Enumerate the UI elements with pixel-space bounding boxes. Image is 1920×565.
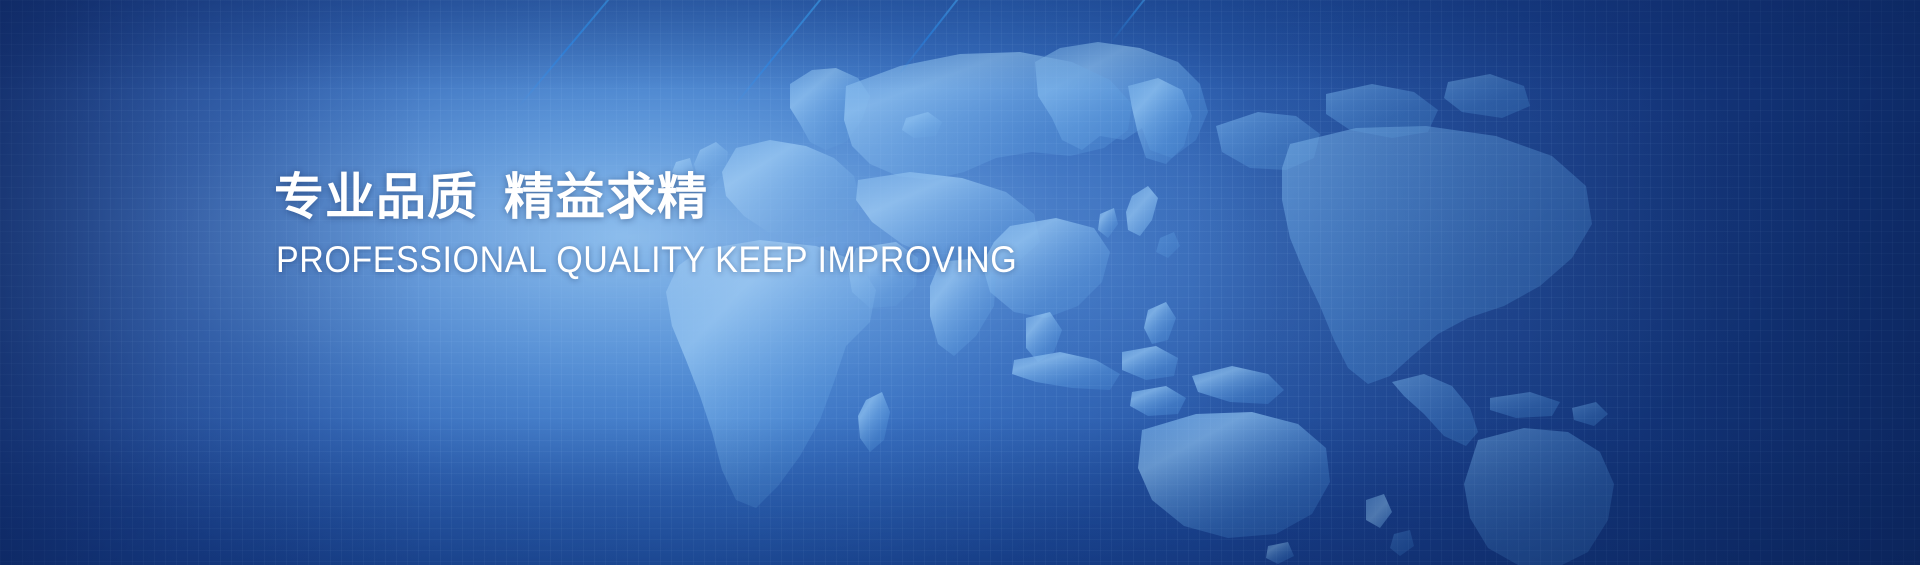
diagonal-streak-icon [519,0,681,106]
banner-copy-block: 专业品质精益求精 PROFESSIONAL QUALITY KEEP IMPRO… [274,170,1082,280]
hero-banner: 专业品质精益求精 PROFESSIONAL QUALITY KEEP IMPRO… [0,0,1920,565]
diagonal-streak-layer [0,0,1920,565]
banner-subline: PROFESSIONAL QUALITY KEEP IMPROVING [276,241,1017,280]
banner-headline: 专业品质精益求精 [274,170,1082,224]
headline-part-one: 专业品质 [274,169,478,225]
diagonal-streak-icon [1111,0,1171,42]
grid-mesh-overlay [0,0,1920,565]
vignette-overlay [0,0,1920,565]
diagonal-streak-icon [899,0,996,74]
diagonal-streak-icon [734,0,871,106]
world-map-silhouette [0,0,1920,565]
world-map-layer [0,0,1920,565]
headline-part-two: 精益求精 [504,169,708,225]
